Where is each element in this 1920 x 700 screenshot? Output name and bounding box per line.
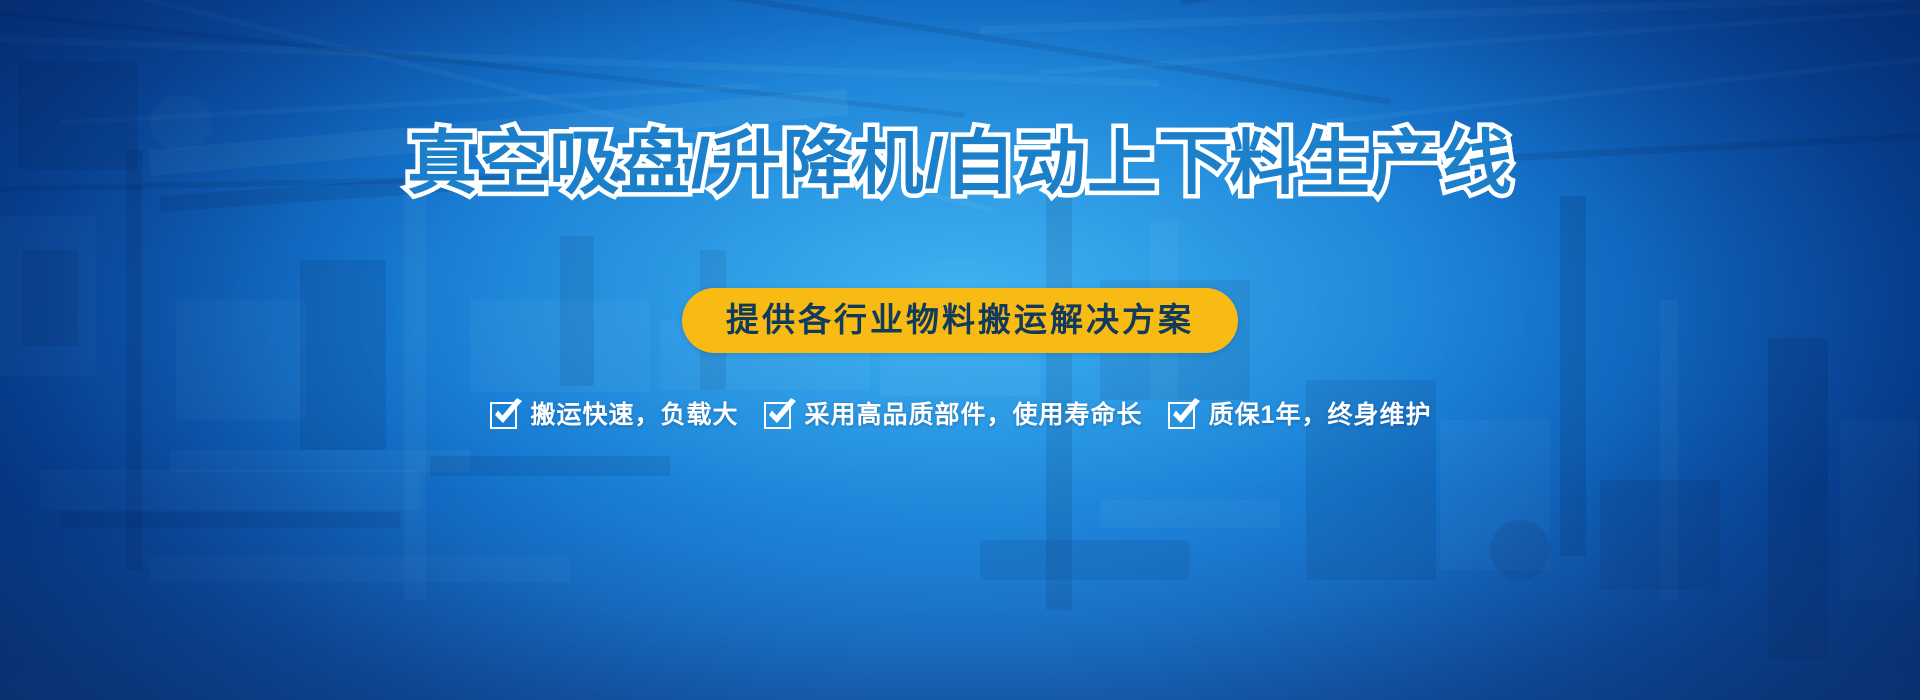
banner-subtitle-wrapper: 提供各行业物料搬运解决方案 bbox=[0, 288, 1920, 353]
feature-label: 采用高品质部件，使用寿命长 bbox=[805, 403, 1143, 428]
banner-content: 真空吸盘/升降机/自动上下料生产线 提供各行业物料搬运解决方案 搬运快速，负载大 bbox=[0, 0, 1920, 700]
hero-banner: 真空吸盘/升降机/自动上下料生产线 提供各行业物料搬运解决方案 搬运快速，负载大 bbox=[0, 0, 1920, 700]
banner-title: 真空吸盘/升降机/自动上下料生产线 bbox=[0, 116, 1920, 210]
check-box-icon bbox=[489, 398, 523, 432]
feature-label: 质保1年，终身维护 bbox=[1209, 403, 1432, 428]
banner-subtitle-pill: 提供各行业物料搬运解决方案 bbox=[682, 288, 1238, 353]
feature-label: 搬运快速，负载大 bbox=[531, 403, 739, 428]
check-box-icon bbox=[763, 398, 797, 432]
feature-item-2: 采用高品质部件，使用寿命长 bbox=[763, 398, 1143, 432]
feature-list: 搬运快速，负载大 采用高品质部件，使用寿命长 质保1 bbox=[0, 398, 1920, 432]
check-box-icon bbox=[1167, 398, 1201, 432]
feature-item-1: 搬运快速，负载大 bbox=[489, 398, 739, 432]
feature-item-3: 质保1年，终身维护 bbox=[1167, 398, 1432, 432]
